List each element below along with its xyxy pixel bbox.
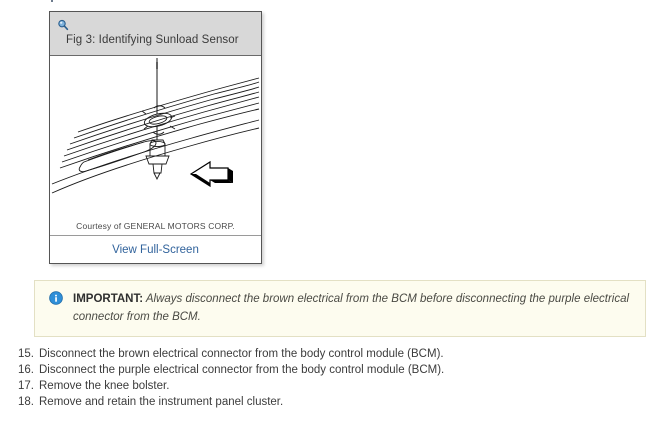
callout-label: IMPORTANT:	[73, 293, 143, 305]
list-item: 15. Disconnect the brown electrical conn…	[18, 346, 618, 362]
step-number: 16.	[18, 362, 39, 378]
figure-illustration[interactable]	[50, 56, 261, 221]
important-callout: IMPORTANT: Always disconnect the brown e…	[34, 280, 646, 337]
list-item: 16. Disconnect the purple electrical con…	[18, 362, 618, 378]
figure-footer: View Full-Screen	[50, 235, 261, 263]
step-text: Remove the knee bolster.	[39, 378, 169, 394]
list-item: 17. Remove the knee bolster.	[18, 378, 618, 394]
step-number: 15.	[18, 346, 39, 362]
step-text: Remove and retain the instrument panel c…	[39, 394, 283, 410]
figure-title: Fig 3: Identifying Sunload Sensor	[66, 34, 239, 46]
step-number: 18.	[18, 394, 39, 410]
figure-courtesy: Courtesy of GENERAL MOTORS CORP.	[50, 221, 261, 231]
step-text: Disconnect the brown electrical connecto…	[39, 346, 444, 362]
magnifier-icon[interactable]	[57, 18, 69, 30]
figure-card: Fig 3: Identifying Sunload Sensor	[49, 11, 262, 264]
procedure-step-list: 15. Disconnect the brown electrical conn…	[18, 346, 618, 410]
step-text: Disconnect the purple electrical connect…	[39, 362, 444, 378]
figure-header: Fig 3: Identifying Sunload Sensor	[50, 12, 261, 56]
callout-text: Always disconnect the brown electrical f…	[73, 293, 629, 323]
view-full-screen-link[interactable]: View Full-Screen	[112, 244, 199, 256]
cut-off-text-marker	[51, 0, 53, 2]
info-circle-icon	[49, 291, 63, 305]
list-item: 18. Remove and retain the instrument pan…	[18, 394, 618, 410]
callout-content: IMPORTANT: Always disconnect the brown e…	[49, 290, 631, 326]
step-number: 17.	[18, 378, 39, 394]
